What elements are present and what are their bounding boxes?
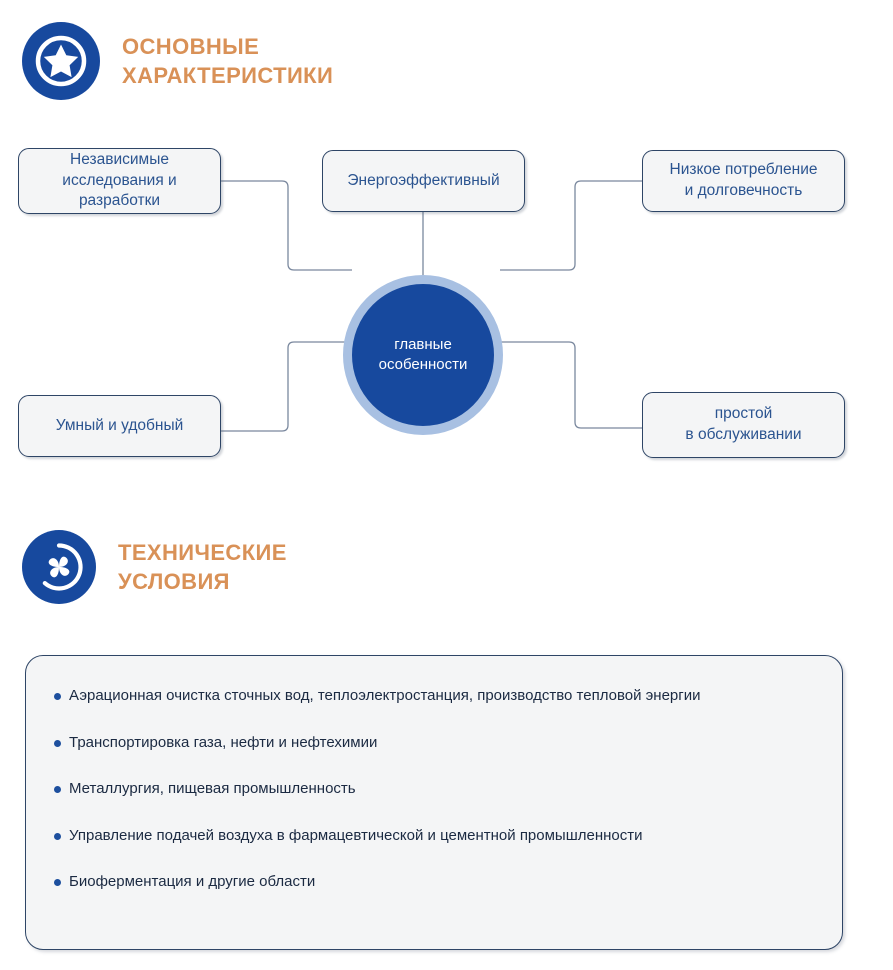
mindmap-node-research-label: Независимые исследования и разработки <box>62 150 176 212</box>
mindmap-node-smart[interactable]: Умный и удобный <box>18 395 221 457</box>
bullet-icon <box>54 879 61 886</box>
bullet-icon <box>54 740 61 747</box>
mindmap-center-node[interactable]: главные особенности <box>343 275 503 435</box>
mindmap-node-easy-service[interactable]: простой в обслуживании <box>642 392 845 458</box>
list-item: Биоферментация и другие области <box>54 872 814 892</box>
features-mindmap: Независимые исследования и разработки Эн… <box>0 120 893 470</box>
mindmap-node-research[interactable]: Независимые исследования и разработки <box>18 148 221 214</box>
mindmap-node-smart-label: Умный и удобный <box>56 416 184 437</box>
list-item: Аэрационная очистка сточных вод, теплоэл… <box>54 686 814 706</box>
mindmap-node-energy-label: Энергоэффективный <box>347 171 499 192</box>
list-item-label: Аэрационная очистка сточных вод, теплоэл… <box>69 686 701 706</box>
list-item: Управление подачей воздуха в фармацевтич… <box>54 826 814 846</box>
mindmap-node-energy[interactable]: Энергоэффективный <box>322 150 525 212</box>
mindmap-center-node-label: главные особенности <box>379 335 468 376</box>
bullet-icon <box>54 833 61 840</box>
list-item-label: Транспортировка газа, нефти и нефтехимии <box>69 733 377 753</box>
list-item: Транспортировка газа, нефти и нефтехимии <box>54 733 814 753</box>
clover-badge-icon <box>22 530 96 604</box>
star-badge-icon <box>22 22 100 100</box>
mindmap-node-easy-service-label: простой в обслуживании <box>685 404 801 445</box>
section-title-specs: ТЕХНИЧЕСКИЕ УСЛОВИЯ <box>118 538 287 596</box>
specs-panel: Аэрационная очистка сточных вод, теплоэл… <box>25 655 843 950</box>
bullet-icon <box>54 693 61 700</box>
connector-smart <box>221 342 352 431</box>
list-item-label: Биоферментация и другие области <box>69 872 315 892</box>
section-header-specs: ТЕХНИЧЕСКИЕ УСЛОВИЯ <box>22 530 287 604</box>
connector-service <box>500 342 642 428</box>
list-item: Металлургия, пищевая промышленность <box>54 779 814 799</box>
list-item-label: Управление подачей воздуха в фармацевтич… <box>69 826 643 846</box>
mindmap-node-low-consumption[interactable]: Низкое потребление и долговечность <box>642 150 845 212</box>
list-item-label: Металлургия, пищевая промышленность <box>69 779 356 799</box>
section-title-features: ОСНОВНЫЕ ХАРАКТЕРИСТИКИ <box>122 32 333 90</box>
bullet-icon <box>54 786 61 793</box>
section-header-features: ОСНОВНЫЕ ХАРАКТЕРИСТИКИ <box>22 22 333 100</box>
mindmap-node-low-consumption-label: Низкое потребление и долговечность <box>670 160 818 201</box>
